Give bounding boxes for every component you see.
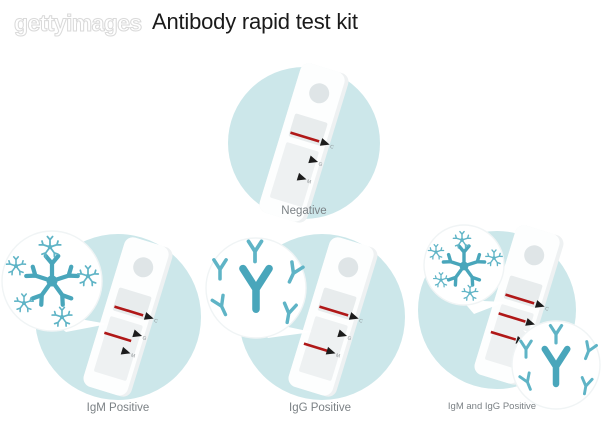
panel-igm-and-igg-positive: C G M <box>418 223 600 409</box>
page-title: Antibody rapid test kit <box>152 9 358 35</box>
caption-igg-positive: IgG Positive <box>270 402 370 414</box>
getty-watermark: gettyimages <box>14 10 142 37</box>
caption-negative: Negative <box>254 205 354 217</box>
illustration-canvas: C G M C <box>0 0 612 430</box>
panel-igg-positive: C G M <box>206 234 405 400</box>
caption-igm-and-igg-positive: IgM and IgG Positive <box>422 401 562 412</box>
panel-igm-positive: C G M <box>2 231 201 400</box>
callout-bubble-igg <box>512 321 600 409</box>
caption-igm-positive: IgM Positive <box>68 402 168 414</box>
panel-negative: C G M <box>228 61 380 226</box>
